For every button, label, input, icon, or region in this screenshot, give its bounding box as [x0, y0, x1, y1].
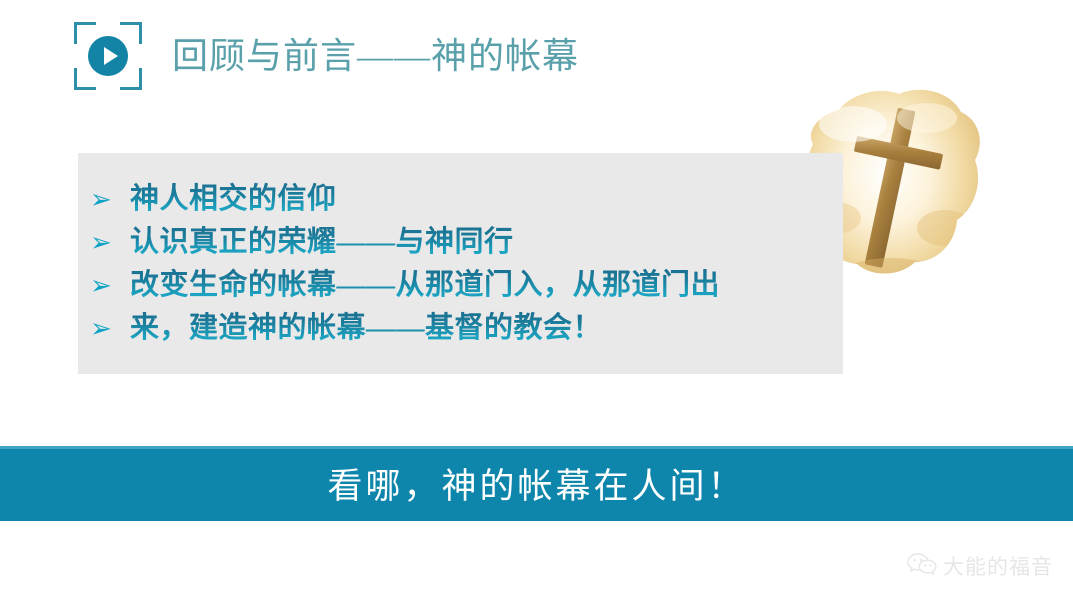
list-item: ➢ 认识真正的荣耀——与神同行 — [90, 221, 990, 264]
list-item-label: 改变生命的帐幕——从那道门入，从那道门出 — [130, 264, 720, 307]
wechat-icon — [907, 552, 937, 581]
list-item-label: 认识真正的荣耀——与神同行 — [130, 221, 514, 264]
play-in-frame-icon — [70, 18, 146, 94]
watermark: 大能的福音 — [907, 551, 1053, 581]
arrow-bullet-icon: ➢ — [90, 222, 130, 265]
arrow-bullet-icon: ➢ — [90, 265, 130, 308]
list-item-label: 神人相交的信仰 — [130, 178, 337, 221]
list-item: ➢ 来，建造神的帐幕——基督的教会！ — [90, 307, 990, 350]
play-circle-icon — [88, 36, 128, 76]
arrow-bullet-icon: ➢ — [90, 179, 130, 222]
list-item: ➢ 改变生命的帐幕——从那道门入，从那道门出 — [90, 264, 990, 307]
watermark-label: 大能的福音 — [943, 551, 1053, 581]
page-title: 回顾与前言——神的帐幕 — [172, 38, 579, 74]
bullet-list: ➢ 神人相交的信仰 ➢ 认识真正的荣耀——与神同行 ➢ 改变生命的帐幕——从那道… — [90, 178, 990, 350]
presentation-slide: 回顾与前言——神的帐幕 — [0, 0, 1073, 599]
list-item-label: 来，建造神的帐幕——基督的教会！ — [130, 307, 602, 350]
slide-header: 回顾与前言——神的帐幕 — [70, 18, 579, 94]
arrow-bullet-icon: ➢ — [90, 308, 130, 351]
bottom-banner: 看哪，神的帐幕在人间！ — [0, 446, 1073, 521]
list-item: ➢ 神人相交的信仰 — [90, 178, 990, 221]
banner-text: 看哪，神的帐幕在人间！ — [327, 458, 745, 509]
